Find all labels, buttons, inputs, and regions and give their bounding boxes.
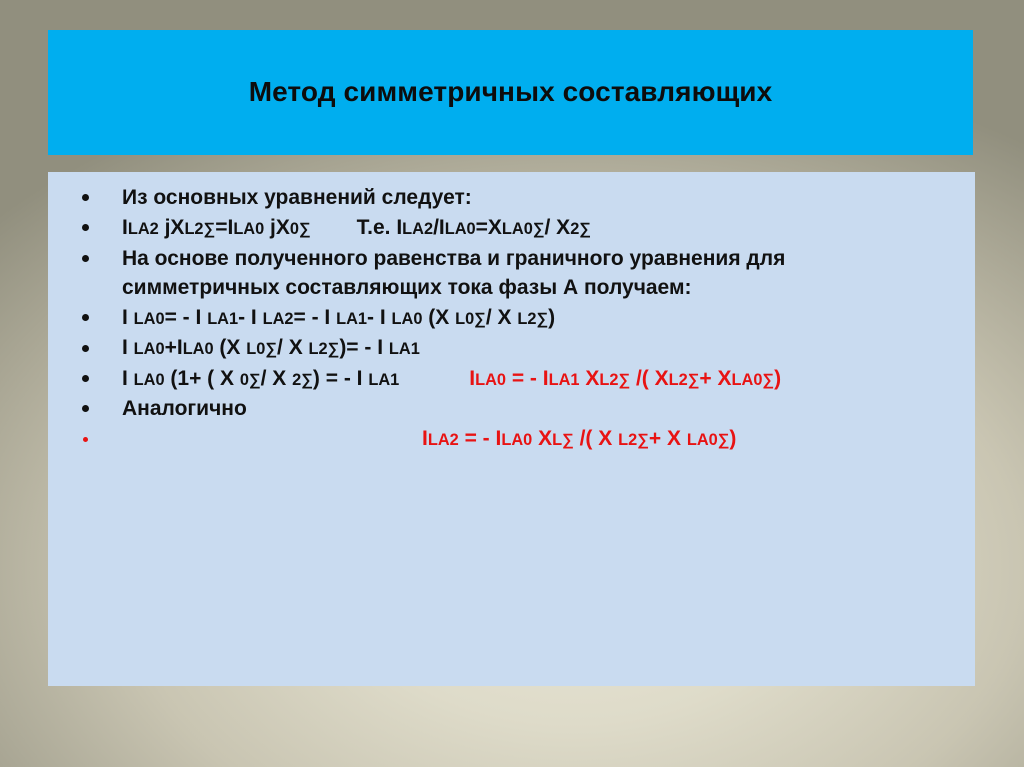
formula-subscript: LA2	[428, 431, 459, 449]
formula-subscript: L0∑	[455, 310, 486, 328]
formula-term: X	[580, 367, 600, 390]
bullet-item-equation-3: I LA0+ILA0 (X L0∑/ X L2∑)= - I LA1	[64, 334, 959, 361]
formula-subscript: LA2	[263, 310, 294, 328]
formula-term: X	[532, 427, 552, 450]
bullet-dot-icon	[82, 405, 89, 412]
formula-subscript: LA1	[389, 340, 420, 358]
formula-term: - I	[367, 306, 392, 329]
formula-right: Т.е. ILA2/ILA0=XLA0∑/ X2∑	[357, 214, 591, 241]
formula-subscript: 0∑	[290, 220, 311, 238]
formula-subscript: 2∑	[292, 371, 313, 389]
formula-subscript: L2∑	[517, 310, 548, 328]
formula-term: / X	[261, 367, 293, 390]
formula-expression: I LA0= - I LA1- I LA2= - I LA1- I LA0 (X…	[122, 304, 959, 331]
formula-term: )	[729, 427, 736, 450]
formula-term: / X	[545, 216, 571, 239]
formula-subscript: LA0∑	[732, 371, 775, 389]
formula-expression-indented: ILA2 = - ILA0 XL∑ /( X L2∑+ X LA0∑)	[122, 425, 959, 452]
formula-term: / X	[277, 336, 309, 359]
formula-subscript: LA0	[501, 431, 532, 449]
formula-term: I	[122, 367, 134, 390]
slide-body-panel: Из основных уравнений следует:ILA2 jXL2∑…	[48, 172, 975, 686]
formula-term: jX	[159, 216, 185, 239]
formula-subscript: LA0	[134, 340, 165, 358]
bullet-dot-icon	[82, 375, 89, 382]
formula-term: Т.е. I	[357, 216, 402, 239]
slide-title-band: Метод симметричных составляющих	[48, 30, 973, 155]
formula-expression: ILA2 = - ILA0 XL∑ /( X L2∑+ X LA0∑)	[422, 427, 736, 450]
formula-term: /I	[433, 216, 445, 239]
formula-row: ILA2 jXL2∑=ILA0 jX0∑Т.е. ILA2/ILA0=XLA0∑…	[122, 214, 959, 241]
formula-subscript: LA1	[207, 310, 238, 328]
slide: Метод симметричных составляющих Из основ…	[0, 0, 1024, 767]
formula-subscript: LA2	[128, 220, 159, 238]
formula-subscript: LA0∑	[687, 431, 730, 449]
formula-subscript: LA0	[134, 371, 165, 389]
formula-term: + X	[699, 367, 731, 390]
formula-term: )	[774, 367, 781, 390]
formula-subscript: LA1	[368, 371, 399, 389]
formula-subscript: L∑	[552, 431, 574, 449]
formula-term: I	[122, 306, 134, 329]
formula-subscript: LA0	[134, 310, 165, 328]
bullet-dot-icon	[82, 194, 89, 201]
formula-term: jX	[264, 216, 290, 239]
formula-left: I LA0 (1+ ( X 0∑/ X 2∑) = - I LA1	[122, 365, 399, 392]
formula-subscript: LA0	[445, 220, 476, 238]
bullet-item-equation-2: I LA0= - I LA1- I LA2= - I LA1- I LA0 (X…	[64, 304, 959, 331]
formula-term: +I	[165, 336, 183, 359]
formula-subscript: LA0	[392, 310, 423, 328]
formula-term: /( X	[630, 367, 669, 390]
bullet-item-equation-5: ILA2 = - ILA0 XL∑ /( X L2∑+ X LA0∑)	[64, 425, 959, 452]
formula-right: ILA0 = - ILA1 XL2∑ /( XL2∑+ XLA0∑)	[469, 365, 781, 392]
formula-subscript: L2∑	[618, 431, 649, 449]
formula-left: ILA2 jXL2∑=ILA0 jX0∑	[122, 214, 311, 241]
bullet-dot-icon	[82, 314, 89, 321]
formula-term: + X	[649, 427, 687, 450]
bullet-dot-icon	[83, 437, 88, 442]
formula-term: /( X	[574, 427, 618, 450]
bullet-item-similarly: Аналогично	[64, 395, 959, 422]
bullet-item-equation-4: I LA0 (1+ ( X 0∑/ X 2∑) = - I LA1ILA0 = …	[64, 365, 959, 392]
page-title: Метод симметричных составляющих	[249, 77, 773, 108]
bullet-text: Аналогично	[122, 395, 959, 422]
formula-term: =I	[215, 216, 233, 239]
formula-subscript: 0∑	[240, 371, 261, 389]
bullet-item-explanation: На основе полученного равенства и гранич…	[64, 245, 959, 302]
formula-subscript: LA0∑	[502, 220, 545, 238]
bullet-text-line: На основе полученного равенства и гранич…	[122, 245, 959, 272]
formula-term: (X	[422, 306, 455, 329]
bullet-item-equation-1: ILA2 jXL2∑=ILA0 jX0∑Т.е. ILA2/ILA0=XLA0∑…	[64, 214, 959, 241]
formula-subscript: LA2	[402, 220, 433, 238]
formula-term: =X	[476, 216, 502, 239]
formula-term: = - I	[294, 306, 337, 329]
formula-term: = - I	[459, 427, 502, 450]
formula-subscript: L2∑	[599, 371, 630, 389]
formula-subscript: LA0	[475, 371, 506, 389]
formula-subscript: LA0	[233, 220, 264, 238]
bullet-text-line: симметричных составляющих тока фазы А по…	[122, 274, 959, 301]
formula-subscript: LA1	[549, 371, 580, 389]
bullet-item-intro: Из основных уравнений следует:	[64, 184, 959, 211]
bullet-dot-icon	[82, 255, 89, 262]
formula-term: (X	[214, 336, 247, 359]
bullet-text: Из основных уравнений следует:	[122, 184, 959, 211]
formula-term: = - I	[165, 306, 208, 329]
formula-term: = - I	[506, 367, 549, 390]
formula-subscript: L2∑	[184, 220, 215, 238]
bullet-dot-icon	[82, 345, 89, 352]
formula-term: )= - I	[339, 336, 389, 359]
bullet-list: Из основных уравнений следует:ILA2 jXL2∑…	[64, 184, 959, 453]
formula-subscript: L2∑	[309, 340, 340, 358]
formula-subscript: L0∑	[246, 340, 277, 358]
formula-subscript: 2∑	[570, 220, 591, 238]
formula-term: )	[548, 306, 555, 329]
formula-term: I	[122, 336, 134, 359]
formula-term: / X	[486, 306, 518, 329]
formula-term: ) = - I	[313, 367, 368, 390]
formula-subscript: LA0	[183, 340, 214, 358]
formula-subscript: L2∑	[669, 371, 700, 389]
formula-subscript: LA1	[336, 310, 367, 328]
formula-row: I LA0 (1+ ( X 0∑/ X 2∑) = - I LA1ILA0 = …	[122, 365, 959, 392]
bullet-dot-icon	[82, 224, 89, 231]
formula-term: - I	[238, 306, 263, 329]
formula-expression: I LA0+ILA0 (X L0∑/ X L2∑)= - I LA1	[122, 334, 959, 361]
formula-term: (1+ ( X	[165, 367, 240, 390]
